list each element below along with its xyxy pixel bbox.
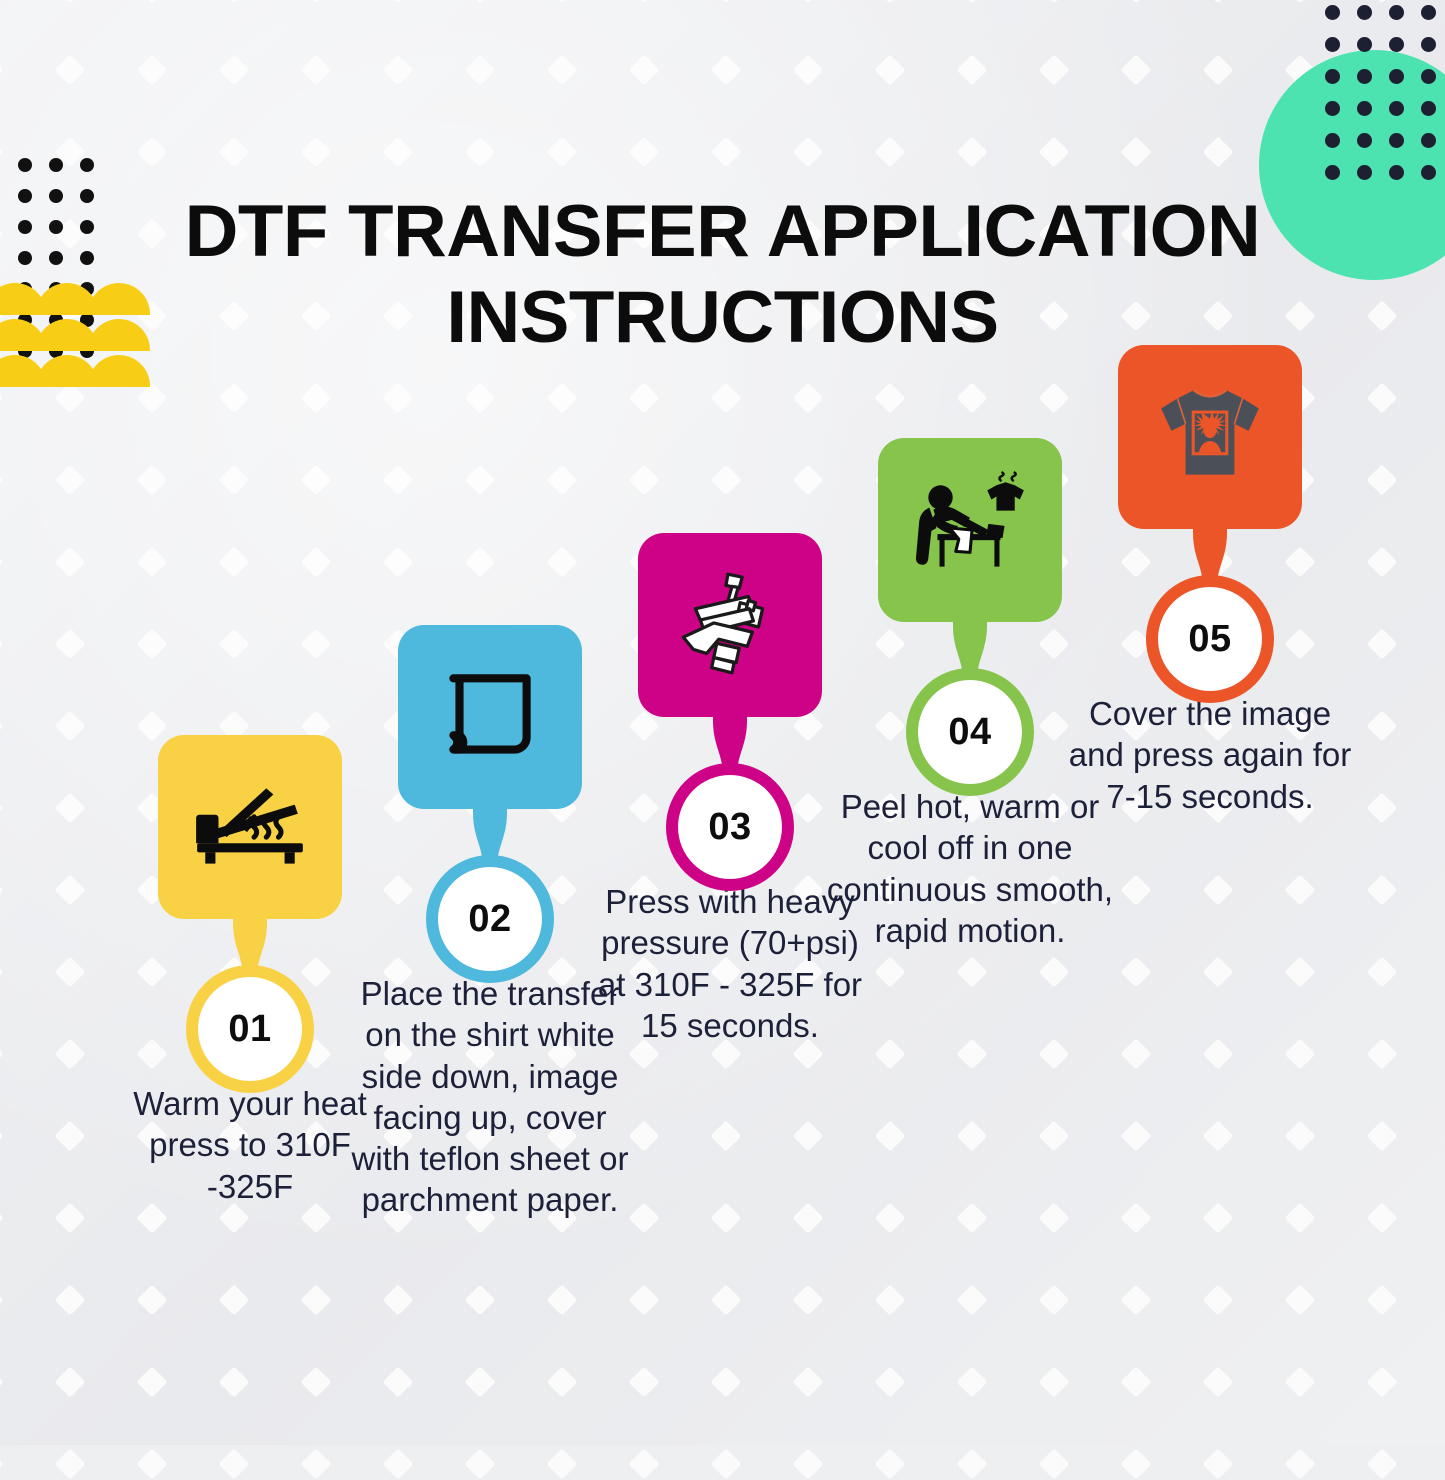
step-number: 01 <box>228 1008 271 1051</box>
step-number-bubble[interactable]: 04 <box>918 680 1022 784</box>
grid-diamond <box>1038 1448 1069 1479</box>
grid-diamond <box>0 1448 4 1479</box>
grid-diamond <box>464 1448 495 1479</box>
heat-press-open-icon <box>189 766 311 888</box>
step-number: 02 <box>468 898 511 941</box>
step-number-bubble[interactable]: 02 <box>438 867 542 971</box>
step-number: 05 <box>1188 618 1231 661</box>
step-connector: 03 <box>638 717 822 867</box>
grid-diamond <box>136 1448 167 1479</box>
peel-transfer-person-icon <box>909 469 1031 591</box>
step-number: 04 <box>948 711 991 754</box>
grid-diamond <box>54 1448 85 1479</box>
step-05: 05 Cover the image and press again for 7… <box>1060 345 1360 817</box>
grid-diamond <box>546 1448 577 1479</box>
step-icon-card[interactable] <box>398 625 582 809</box>
grid-diamond <box>382 1448 413 1479</box>
grid-diamond <box>1120 1448 1151 1479</box>
step-connector: 01 <box>158 919 342 1069</box>
step-connector: 04 <box>878 622 1062 772</box>
step-connector: 02 <box>398 809 582 959</box>
step-connector: 05 <box>1118 529 1302 679</box>
grid-diamond <box>1366 1448 1397 1479</box>
step-icon-card[interactable] <box>158 735 342 919</box>
step-number-bubble[interactable]: 03 <box>678 775 782 879</box>
grid-diamond <box>300 1448 331 1479</box>
grid-diamond <box>874 1448 905 1479</box>
step-number: 03 <box>708 806 751 849</box>
printed-tshirt-icon <box>1149 376 1271 498</box>
grid-diamond <box>710 1448 741 1479</box>
grid-diamond <box>1284 1448 1315 1479</box>
grid-diamond <box>628 1448 659 1479</box>
step-number-bubble[interactable]: 01 <box>198 977 302 1081</box>
step-number-bubble[interactable]: 05 <box>1158 587 1262 691</box>
grid-diamond <box>956 1448 987 1479</box>
step-icon-card[interactable] <box>638 533 822 717</box>
step-icon-card[interactable] <box>878 438 1062 622</box>
steps-container: 01 Warm your heat press to 310F -325F <box>0 0 1445 1445</box>
step-caption: Cover the image and press again for 7-15… <box>1060 693 1360 817</box>
step-icon-card[interactable] <box>1118 345 1302 529</box>
transfer-sheet-icon <box>429 656 551 778</box>
grid-diamond <box>792 1448 823 1479</box>
heat-press-machine-icon <box>669 564 791 686</box>
grid-diamond <box>218 1448 249 1479</box>
grid-diamond <box>1202 1448 1233 1479</box>
